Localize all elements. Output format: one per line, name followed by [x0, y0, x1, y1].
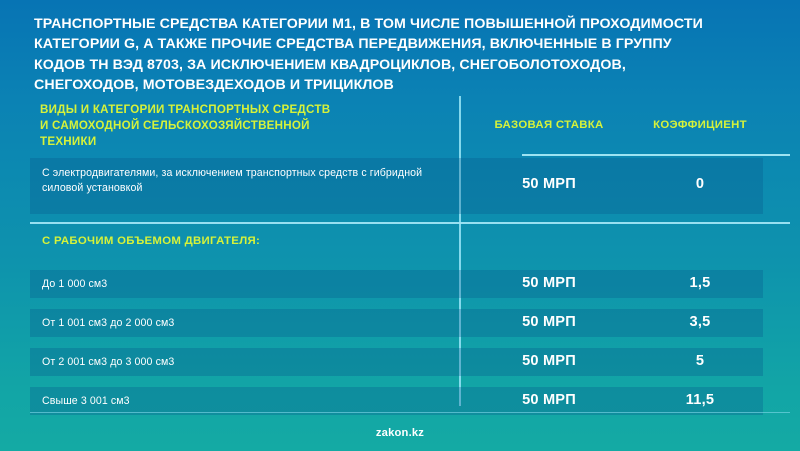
row-description: Свыше 3 001 см3 [42, 394, 452, 409]
infographic-poster: ТРАНСПОРТНЫЕ СРЕДСТВА КАТЕГОРИИ М1, В ТО… [0, 0, 800, 451]
row-coefficient: 1,5 [620, 275, 780, 291]
rates-table: ВИДЫ И КАТЕГОРИИ ТРАНСПОРТНЫХ СРЕДСТВ И … [0, 96, 800, 406]
section-divider [30, 222, 790, 224]
table-row: С электродвигателями, за исключением тра… [30, 158, 763, 214]
header-category-line-3: ТЕХНИКИ [40, 134, 440, 150]
table-header-rate: БАЗОВАЯ СТАВКА [481, 119, 617, 131]
table-row: От 2 001 см3 до 3 000 см3 50 МРП 5 [30, 348, 763, 376]
row-coefficient: 11,5 [620, 392, 780, 408]
row-rate: 50 МРП [481, 392, 617, 408]
table-header-category: ВИДЫ И КАТЕГОРИИ ТРАНСПОРТНЫХ СРЕДСТВ И … [40, 102, 440, 151]
row-coefficient: 0 [620, 176, 780, 192]
section-heading-engine-volume: С РАБОЧИМ ОБЪЕМОМ ДВИГАТЕЛЯ: [42, 235, 260, 247]
row-description: От 2 001 см3 до 3 000 см3 [42, 355, 452, 370]
row-coefficient: 5 [620, 353, 780, 369]
header-category-line-2: И САМОХОДНОЙ СЕЛЬСКОХОЗЯЙСТВЕННОЙ [40, 118, 440, 134]
title-line-2: КАТЕГОРИИ G, А ТАКЖЕ ПРОЧИЕ СРЕДСТВА ПЕР… [34, 34, 774, 54]
table-header-coefficient: КОЭФФИЦИЕНТ [620, 119, 780, 131]
title-line-4: СНЕГОХОДОВ, МОТОВЕЗДЕХОДОВ И ТРИЦИКЛОВ [34, 75, 774, 95]
row-description: От 1 001 см3 до 2 000 см3 [42, 316, 452, 331]
row-description: С электродвигателями, за исключением тра… [42, 166, 452, 197]
row-coefficient: 3,5 [620, 314, 780, 330]
row-description: До 1 000 см3 [42, 277, 452, 292]
footer-divider [30, 412, 790, 413]
row-rate: 50 МРП [481, 176, 617, 192]
title-line-3: КОДОВ ТН ВЭД 8703, ЗА ИСКЛЮЧЕНИЕМ КВАДРО… [34, 55, 774, 75]
table-row: От 1 001 см3 до 2 000 см3 50 МРП 3,5 [30, 309, 763, 337]
row-rate: 50 МРП [481, 314, 617, 330]
table-row: Свыше 3 001 см3 50 МРП 11,5 [30, 387, 763, 415]
header-category-line-1: ВИДЫ И КАТЕГОРИИ ТРАНСПОРТНЫХ СРЕДСТВ [40, 102, 440, 118]
header-underline [522, 154, 790, 156]
page-title: ТРАНСПОРТНЫЕ СРЕДСТВА КАТЕГОРИИ М1, В ТО… [34, 14, 774, 96]
row-rate: 50 МРП [481, 275, 617, 291]
title-line-1: ТРАНСПОРТНЫЕ СРЕДСТВА КАТЕГОРИИ М1, В ТО… [34, 14, 774, 34]
footer-brand: zakon.kz [0, 427, 800, 439]
table-row: До 1 000 см3 50 МРП 1,5 [30, 270, 763, 298]
row-rate: 50 МРП [481, 353, 617, 369]
